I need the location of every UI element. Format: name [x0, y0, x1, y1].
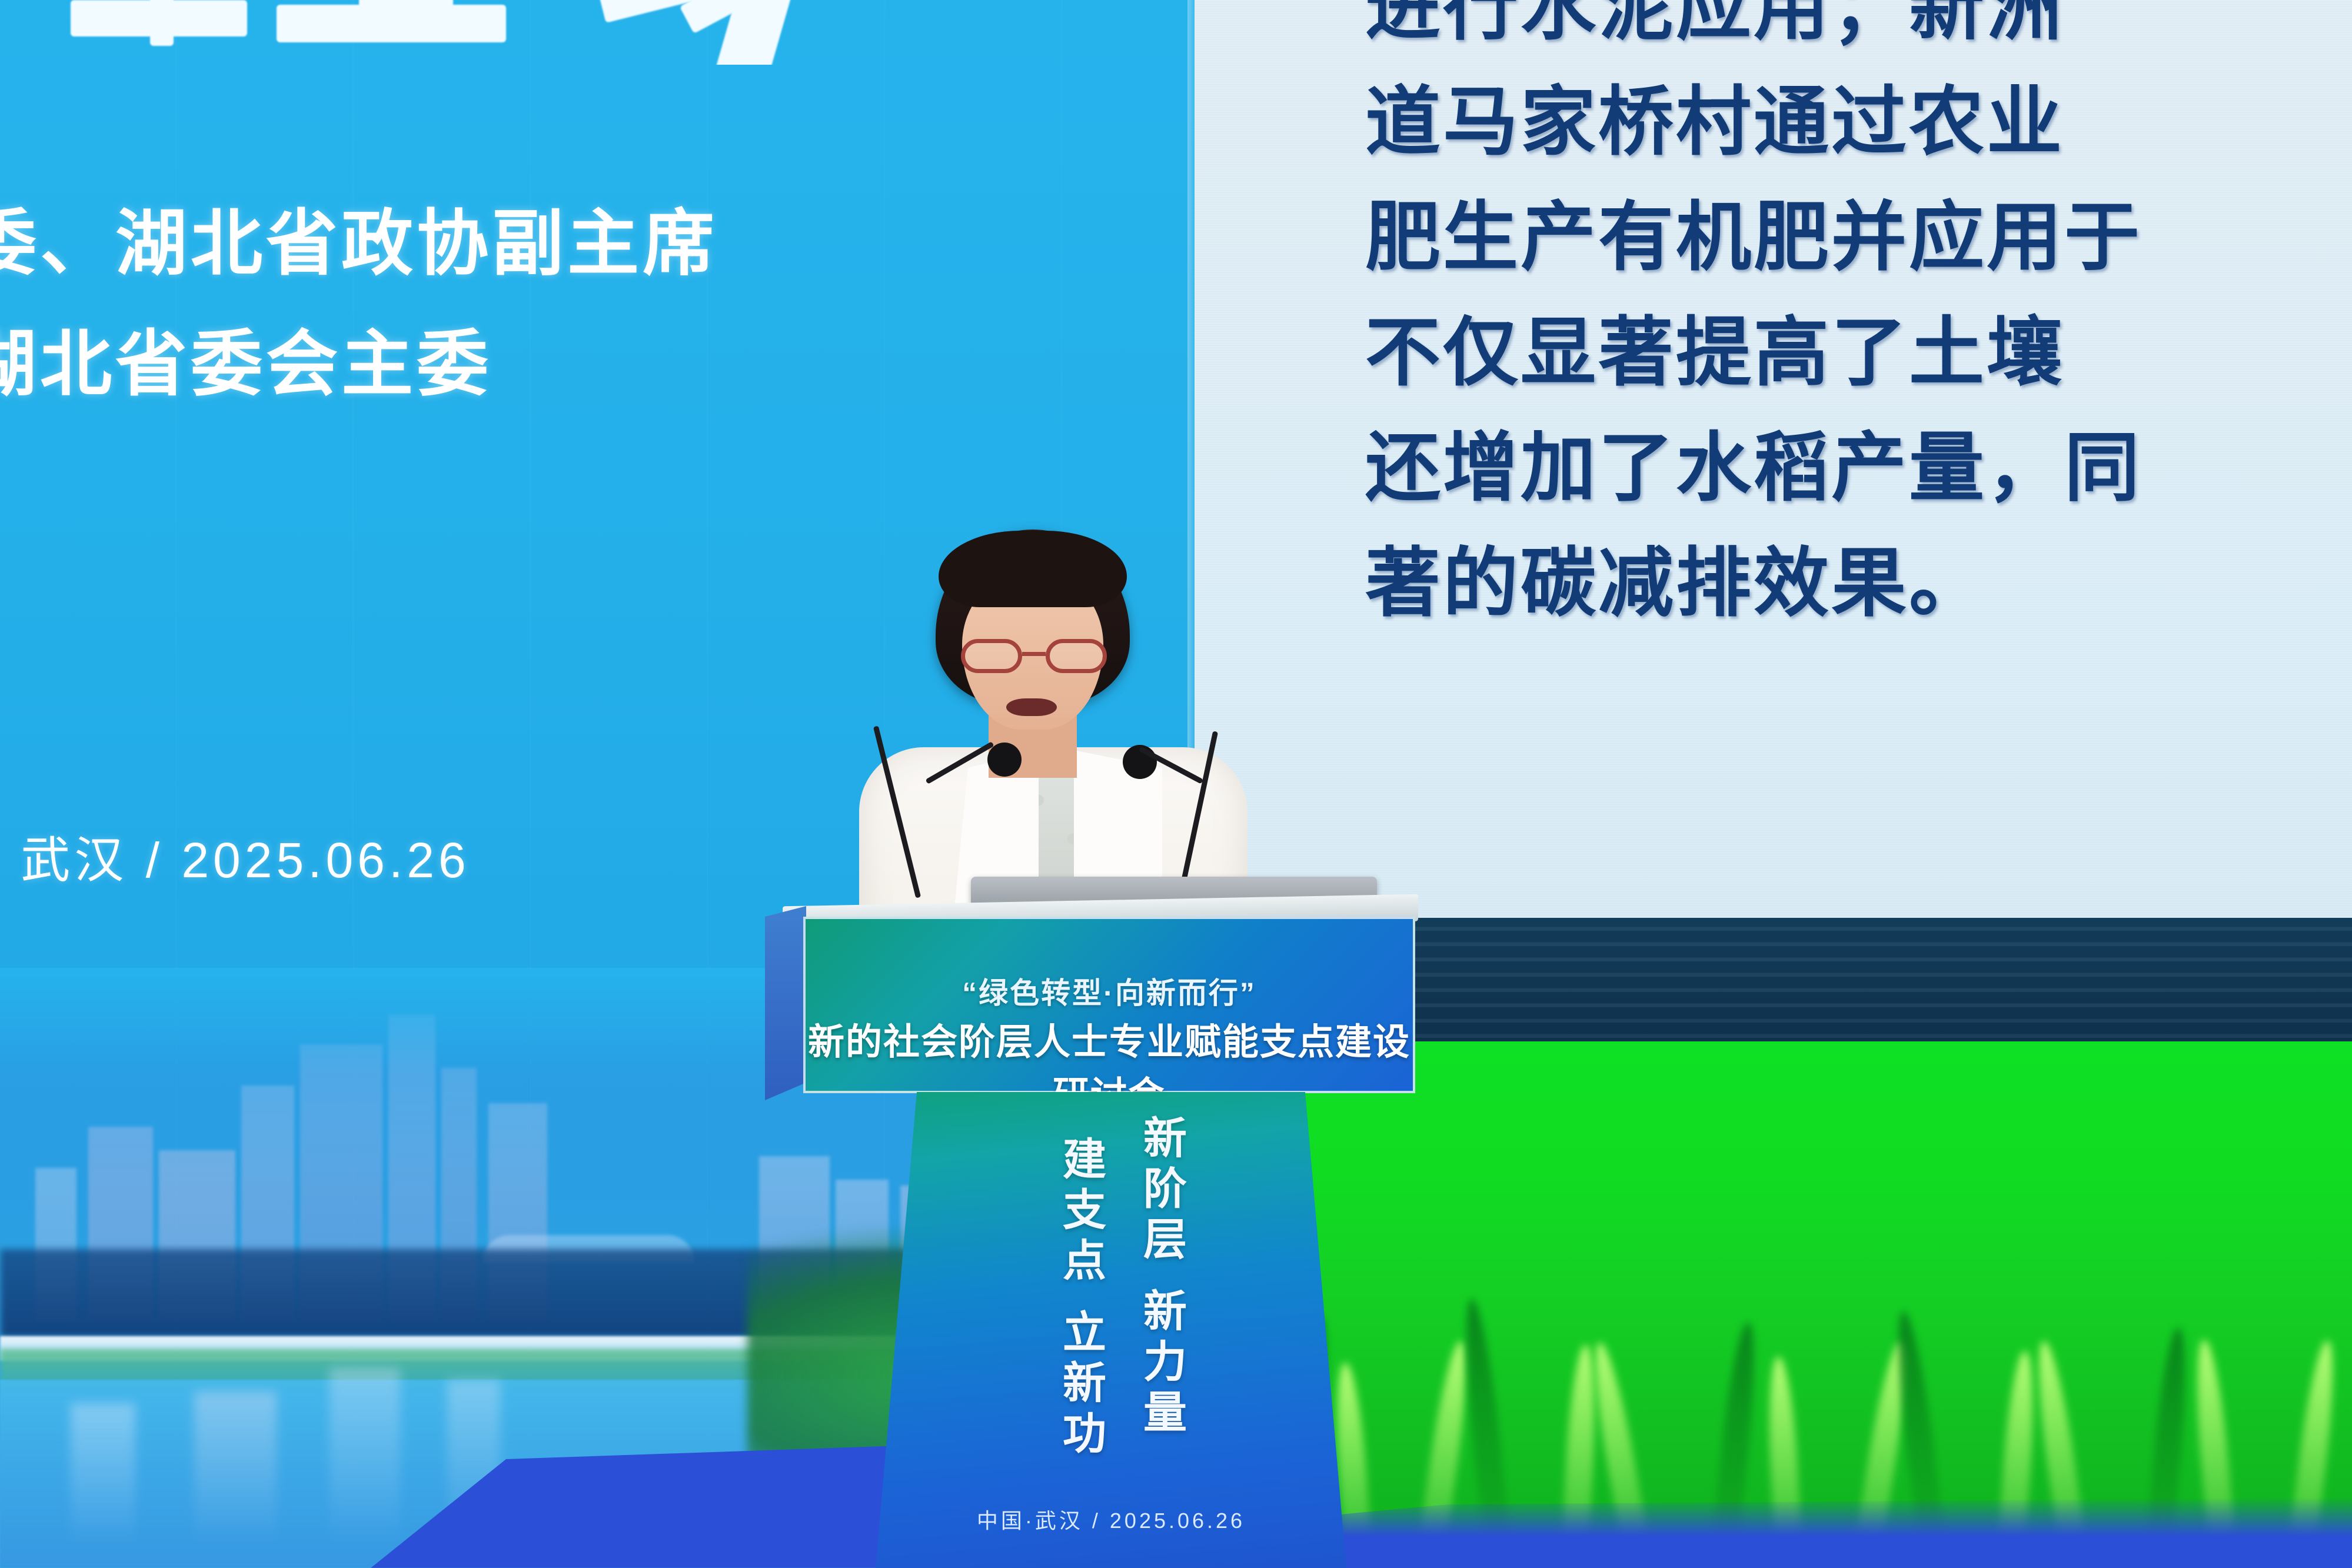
slide-line-4: 不仅显著提高了土壤 — [1365, 295, 2352, 411]
vr-char-2: 阶 — [1143, 1164, 1187, 1214]
slide-line-5: 还增加了水稻产量，同 — [1365, 411, 2352, 526]
microphone-left-head — [987, 743, 1022, 777]
podium-side-left — [765, 906, 806, 1100]
podium-vertical-right-column: 新 阶 层 新 力 量 — [1143, 1113, 1187, 1438]
vr-char-6: 量 — [1143, 1387, 1187, 1438]
podium-pedestal: 新 阶 层 新 力 量 建 支 点 立 新 功 中国·武汉 / 2025.06.… — [876, 1092, 1346, 1568]
backdrop-venue-date: · 武汉 / 2025.06.26 — [0, 821, 470, 892]
speaker-fringe — [939, 531, 1127, 607]
speaker-title-line-2: 湖北省委会主委 — [0, 306, 492, 410]
projection-screen: 进行水泥应用；新洲 道马家桥村通过农业 肥生产有机肥并应用于 不仅显著提高了土壤… — [1195, 0, 2352, 918]
vl-char-6: 功 — [1063, 1409, 1106, 1459]
speaker-title-line-1: 委、湖北省政协副主席 — [0, 185, 718, 289]
podium-front-panel: “绿色转型·向新而行” 新的社会阶层人士专业赋能支点建设研讨会 — [803, 917, 1415, 1093]
vl-char-1: 建 — [1063, 1134, 1106, 1185]
vr-char-4: 新 — [1143, 1286, 1187, 1337]
vr-char-5: 力 — [1143, 1337, 1187, 1387]
podium-vertical-left-column: 建 支 点 立 新 功 — [1063, 1134, 1106, 1459]
vl-char-3: 点 — [1063, 1236, 1106, 1286]
vl-char-5: 新 — [1063, 1358, 1106, 1409]
slide-line-3: 肥生产有机肥并应用于 — [1365, 180, 2352, 295]
glasses-icon — [961, 639, 1107, 673]
conference-stage-photo: 委、湖北省政协副主席 湖北省委会主委 · 武汉 / 2025.06.26 — [0, 0, 2352, 1568]
podium-date-line: 中国·武汉 / 2025.06.26 — [876, 1504, 1346, 1534]
vl-char-2: 支 — [1063, 1185, 1106, 1236]
cropped-headline-glyphs — [0, 0, 883, 65]
vr-char-3: 层 — [1143, 1214, 1187, 1265]
slide-line-1: 进行水泥应用；新洲 — [1365, 0, 2352, 65]
vr-char-1: 新 — [1143, 1113, 1187, 1164]
slide-text-block: 进行水泥应用；新洲 道马家桥村通过农业 肥生产有机肥并应用于 不仅显著提高了土壤… — [1365, 0, 2352, 641]
slide-line-2: 道马家桥村通过农业 — [1365, 65, 2352, 180]
vl-char-4: 立 — [1063, 1307, 1106, 1358]
rice-field-artwork — [1195, 1041, 2352, 1568]
slide-line-6: 著的碳减排效果。 — [1365, 526, 2352, 641]
podium-slogan: “绿色转型·向新而行” — [806, 970, 1413, 1012]
speaker-mouth — [1006, 698, 1057, 716]
